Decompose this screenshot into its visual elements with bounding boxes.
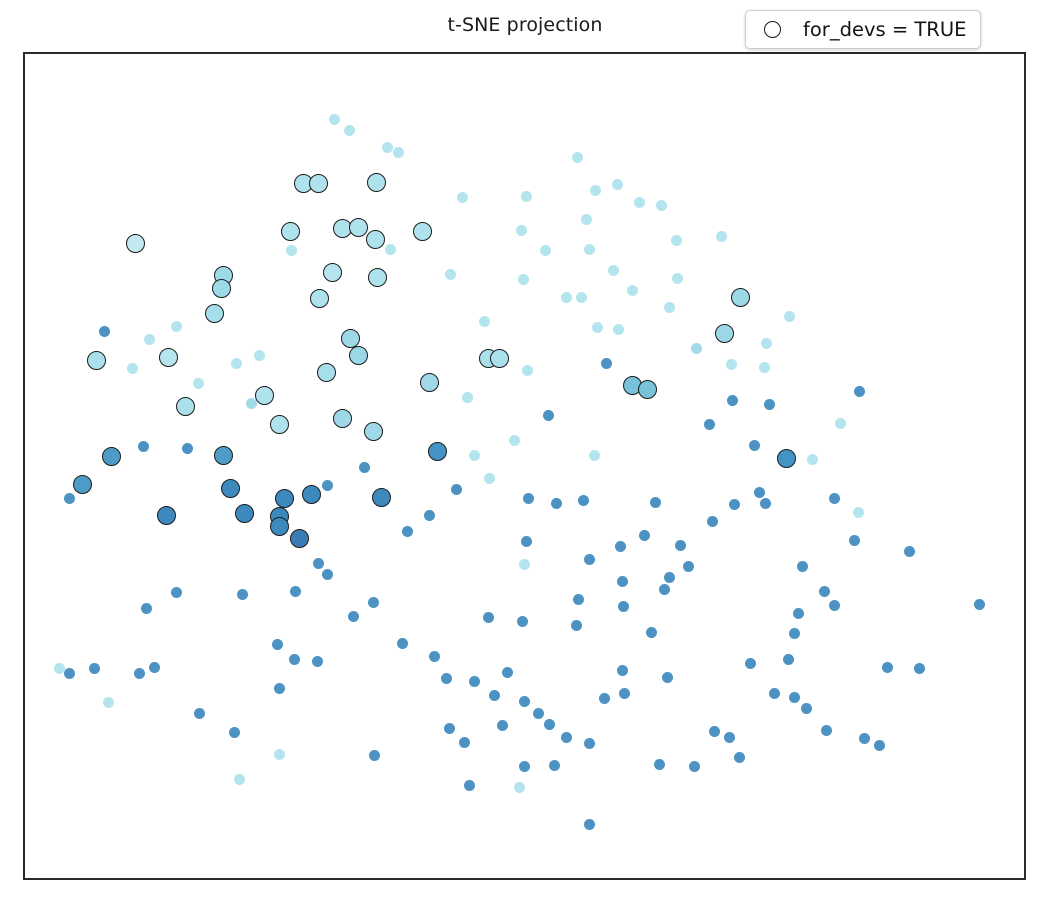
scatter-point (760, 498, 771, 509)
scatter-point (149, 662, 160, 673)
scatter-point (581, 214, 592, 225)
scatter-point (193, 378, 204, 389)
scatter-point (601, 358, 612, 369)
scatter-point (523, 493, 534, 504)
scatter-point (322, 569, 333, 580)
scatter-point (483, 612, 494, 623)
legend-item-label: for_devs = TRUE (803, 18, 966, 41)
scatter-point (359, 462, 370, 473)
figure-canvas: t-SNE projection for_devs = TRUE (0, 0, 1050, 900)
scatter-point (459, 737, 470, 748)
scatter-point (464, 780, 475, 791)
scatter-point (734, 752, 745, 763)
scatter-point (849, 535, 860, 546)
scatter-point (589, 450, 600, 461)
scatter-point (89, 663, 100, 674)
scatter-point-for-devs-true (235, 504, 254, 523)
scatter-point (549, 760, 560, 771)
scatter-point-for-devs-true (364, 422, 383, 441)
scatter-point (639, 530, 650, 541)
plot-area[interactable] (23, 52, 1026, 880)
scatter-point (619, 688, 630, 699)
scatter-point (664, 572, 675, 583)
scatter-point (572, 152, 583, 163)
scatter-point (231, 358, 242, 369)
scatter-point (727, 395, 738, 406)
scatter-point (274, 683, 285, 694)
scatter-point (707, 516, 718, 527)
scatter-point (519, 696, 530, 707)
scatter-point (689, 761, 700, 772)
scatter-point-for-devs-true (309, 174, 328, 193)
scatter-point (144, 334, 155, 345)
scatter-point-for-devs-true (73, 475, 92, 494)
scatter-point-for-devs-true (87, 351, 106, 370)
scatter-point (584, 554, 595, 565)
scatter-point (789, 692, 800, 703)
scatter-point (171, 587, 182, 598)
scatter-point (517, 616, 528, 627)
scatter-point-for-devs-true (212, 279, 231, 298)
scatter-point-for-devs-true (255, 386, 274, 405)
scatter-point (134, 668, 145, 679)
scatter-point (627, 285, 638, 296)
scatter-point-for-devs-true (777, 449, 796, 468)
scatter-point (469, 676, 480, 687)
scatter-point-for-devs-true (420, 373, 439, 392)
scatter-point-for-devs-true (341, 329, 360, 348)
scatter-point (451, 484, 462, 495)
scatter-point-for-devs-true (333, 409, 352, 428)
scatter-point (254, 350, 265, 361)
scatter-point-for-devs-true (367, 173, 386, 192)
scatter-point (286, 245, 297, 256)
scatter-point-for-devs-true (372, 488, 391, 507)
scatter-point-for-devs-true (221, 479, 240, 498)
scatter-point-for-devs-true (349, 218, 368, 237)
scatter-point (769, 688, 780, 699)
scatter-point-for-devs-true (428, 442, 447, 461)
scatter-point (141, 603, 152, 614)
scatter-point (704, 419, 715, 430)
scatter-point (274, 749, 285, 760)
scatter-point (561, 732, 572, 743)
scatter-point (272, 639, 283, 650)
scatter-point (393, 147, 404, 158)
scatter-point (344, 125, 355, 136)
scatter-point (522, 365, 533, 376)
scatter-point-for-devs-true (366, 230, 385, 249)
scatter-point (514, 782, 525, 793)
scatter-point (634, 197, 645, 208)
scatter-point-for-devs-true (490, 349, 509, 368)
scatter-point (469, 450, 480, 461)
scatter-point (882, 662, 893, 673)
scatter-point (521, 536, 532, 547)
scatter-point (382, 142, 393, 153)
scatter-point (615, 541, 626, 552)
scatter-point (429, 651, 440, 662)
scatter-point (764, 399, 775, 410)
scatter-point (613, 324, 624, 335)
scatter-point (853, 507, 864, 518)
scatter-point (64, 493, 75, 504)
scatter-point-for-devs-true (270, 415, 289, 434)
scatter-point (571, 620, 582, 631)
scatter-point (237, 589, 248, 600)
scatter-point-for-devs-true (368, 268, 387, 287)
scatter-point (672, 273, 683, 284)
scatter-point-for-devs-true (413, 222, 432, 241)
scatter-point-for-devs-true (302, 485, 321, 504)
scatter-point (754, 487, 765, 498)
scatter-point (745, 658, 756, 669)
scatter-point (819, 586, 830, 597)
scatter-point (599, 693, 610, 704)
scatter-point (662, 672, 673, 683)
scatter-point (182, 443, 193, 454)
scatter-point-for-devs-true (157, 506, 176, 525)
scatter-point (584, 819, 595, 830)
scatter-point (761, 338, 772, 349)
scatter-point (457, 192, 468, 203)
scatter-point (859, 733, 870, 744)
scatter-point (171, 321, 182, 332)
scatter-point (368, 597, 379, 608)
scatter-point (724, 732, 735, 743)
scatter-point (749, 440, 760, 451)
scatter-point (64, 668, 75, 679)
scatter-point (194, 708, 205, 719)
scatter-point-for-devs-true (638, 380, 657, 399)
scatter-point (974, 599, 985, 610)
scatter-point (874, 740, 885, 751)
scatter-point (348, 611, 359, 622)
scatter-point (783, 654, 794, 665)
scatter-point (716, 231, 727, 242)
scatter-point (229, 727, 240, 738)
scatter-point (807, 454, 818, 465)
scatter-point (573, 594, 584, 605)
scatter-point (445, 269, 456, 280)
scatter-point (444, 723, 455, 734)
scatter-point (518, 274, 529, 285)
scatter-point (904, 546, 915, 557)
scatter-point (246, 398, 257, 409)
scatter-point (654, 759, 665, 770)
legend-open-circle-icon (764, 21, 781, 38)
scatter-point (99, 326, 110, 337)
scatter-point (369, 750, 380, 761)
scatter-point (519, 559, 530, 570)
scatter-point (759, 362, 770, 373)
scatter-point (618, 601, 629, 612)
scatter-point (543, 410, 554, 421)
scatter-point (578, 495, 589, 506)
scatter-point (322, 480, 333, 491)
scatter-point (584, 738, 595, 749)
scatter-point (914, 663, 925, 674)
scatter-point (516, 225, 527, 236)
scatter-point-for-devs-true (281, 222, 300, 241)
scatter-points-layer (25, 54, 1024, 878)
scatter-point (289, 654, 300, 665)
scatter-point (590, 185, 601, 196)
scatter-point-for-devs-true (270, 517, 289, 536)
scatter-point (329, 114, 340, 125)
scatter-point-for-devs-true (159, 348, 178, 367)
scatter-point (462, 392, 473, 403)
scatter-point (103, 697, 114, 708)
scatter-point-for-devs-true (731, 288, 750, 307)
scatter-point (617, 576, 628, 587)
scatter-point (540, 245, 551, 256)
scatter-point (234, 774, 245, 785)
scatter-point (854, 386, 865, 397)
scatter-point (509, 435, 520, 446)
scatter-point (521, 191, 532, 202)
scatter-point (489, 690, 500, 701)
scatter-point (797, 561, 808, 572)
scatter-point-for-devs-true (317, 363, 336, 382)
scatter-point (656, 200, 667, 211)
scatter-point (664, 302, 675, 313)
scatter-point (592, 322, 603, 333)
scatter-point (127, 363, 138, 374)
scatter-point-for-devs-true (126, 234, 145, 253)
scatter-point (551, 498, 562, 509)
scatter-point (784, 311, 795, 322)
scatter-point (397, 638, 408, 649)
scatter-point (726, 359, 737, 370)
scatter-point-for-devs-true (349, 346, 368, 365)
scatter-point (612, 179, 623, 190)
scatter-point (729, 499, 740, 510)
scatter-point-for-devs-true (290, 529, 309, 548)
scatter-point (441, 673, 452, 684)
scatter-point (533, 708, 544, 719)
scatter-point (683, 561, 694, 572)
scatter-point (138, 441, 149, 452)
scatter-point (659, 584, 670, 595)
scatter-point (312, 656, 323, 667)
scatter-point-for-devs-true (715, 324, 734, 343)
scatter-point (385, 244, 396, 255)
scatter-point (576, 292, 587, 303)
scatter-point-for-devs-true (102, 447, 121, 466)
legend-box[interactable]: for_devs = TRUE (745, 10, 981, 49)
scatter-point-for-devs-true (176, 397, 195, 416)
scatter-point (650, 497, 661, 508)
scatter-point (484, 473, 495, 484)
scatter-point (519, 761, 530, 772)
scatter-point (675, 540, 686, 551)
scatter-point (617, 665, 628, 676)
scatter-point-for-devs-true (214, 446, 233, 465)
scatter-point (829, 600, 840, 611)
scatter-point-for-devs-true (275, 489, 294, 508)
scatter-point-for-devs-true (205, 304, 224, 323)
scatter-point-for-devs-true (310, 289, 329, 308)
scatter-point (497, 720, 508, 731)
scatter-point (290, 586, 301, 597)
scatter-point (544, 719, 555, 730)
scatter-point-for-devs-true (323, 263, 342, 282)
scatter-point (608, 265, 619, 276)
scatter-point (402, 526, 413, 537)
scatter-point (829, 493, 840, 504)
scatter-point (646, 627, 657, 638)
scatter-point (561, 292, 572, 303)
scatter-point (691, 343, 702, 354)
scatter-point (789, 628, 800, 639)
scatter-point (479, 316, 490, 327)
scatter-point (835, 418, 846, 429)
scatter-point (709, 726, 720, 737)
scatter-point (424, 510, 435, 521)
scatter-point (313, 558, 324, 569)
scatter-point (793, 608, 804, 619)
scatter-point (502, 667, 513, 678)
scatter-point (584, 244, 595, 255)
scatter-point (801, 703, 812, 714)
scatter-point (671, 235, 682, 246)
scatter-point (821, 725, 832, 736)
